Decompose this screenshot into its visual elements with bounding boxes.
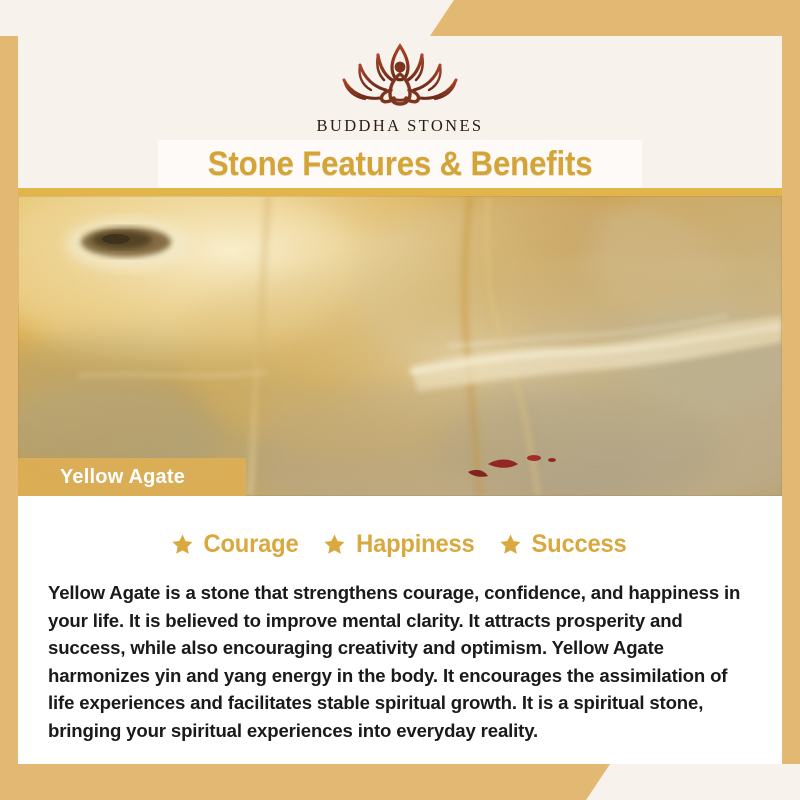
bottom-left-gold-band — [0, 764, 610, 800]
lotus-meditation-icon — [334, 40, 466, 114]
gold-divider-rule — [18, 188, 782, 196]
right-gold-border — [782, 12, 800, 764]
keyword-item-happiness: Happiness — [323, 530, 478, 559]
stone-benefits-poster: BUDDHA STONES Stone Features & Benefits — [0, 0, 800, 800]
stone-name-label: Yellow Agate — [60, 466, 185, 489]
stone-caption-chip: Yellow Agate — [18, 458, 246, 496]
keyword-label: Courage — [203, 530, 298, 559]
brand-header: BUDDHA STONES — [18, 36, 782, 140]
keyword-label: Success — [532, 530, 627, 559]
stone-description: Yellow Agate is a stone that strengthens… — [48, 579, 752, 744]
keyword-label: Happiness — [356, 530, 474, 559]
star-icon — [323, 533, 346, 556]
star-icon — [499, 533, 522, 556]
star-icon — [171, 533, 194, 556]
page-title: Stone Features & Benefits — [208, 145, 593, 184]
keyword-item-success: Success — [499, 530, 629, 559]
stone-photo: Yellow Agate — [18, 196, 782, 496]
left-gold-border — [0, 36, 18, 788]
stone-info-card: Courage Happiness — [18, 496, 782, 764]
brand-name: BUDDHA STONES — [316, 116, 483, 136]
keyword-list: Courage Happiness — [48, 530, 752, 559]
poster-page: BUDDHA STONES Stone Features & Benefits — [18, 36, 782, 764]
title-banner: Stone Features & Benefits — [18, 140, 782, 188]
top-right-gold-band — [430, 0, 800, 36]
keyword-item-courage: Courage — [171, 530, 301, 559]
